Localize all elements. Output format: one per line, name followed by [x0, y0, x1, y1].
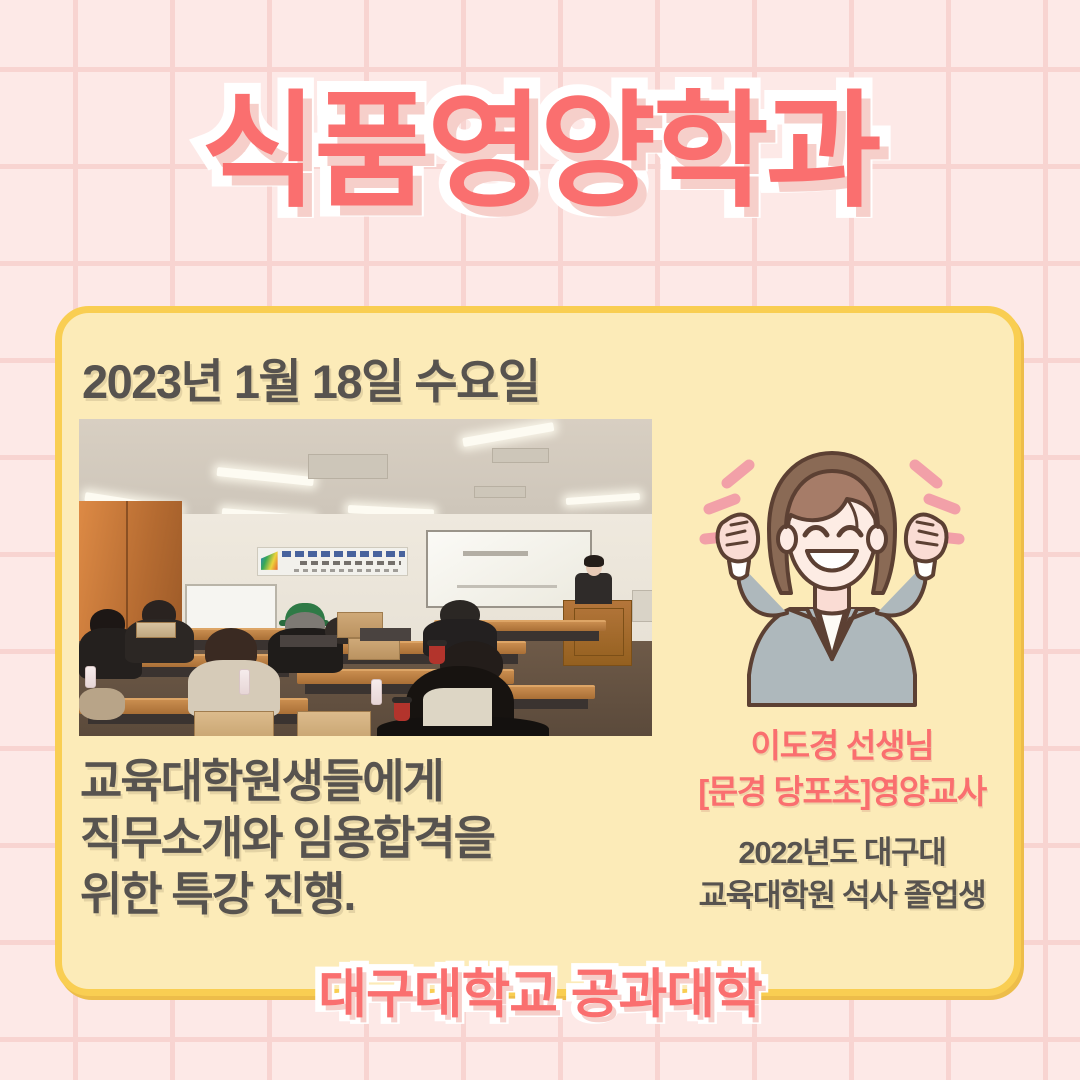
photo-speaker-body	[575, 573, 612, 605]
poster-root: 식품영양학과 2023년 1월 18일 수요일	[0, 0, 1080, 1080]
classroom-photo	[79, 419, 652, 736]
photo-laptop	[280, 635, 337, 648]
ceiling-vent	[308, 454, 388, 479]
speaker-info: 이도경 선생님 [문경 당포초]영양교사 2022년도 대구대 교육대학원 석사…	[658, 725, 1026, 918]
content-card: 2023년 1월 18일 수요일	[55, 306, 1021, 996]
footer-container: 대구대학교 공과대학	[0, 952, 1080, 1028]
photo-bottle	[85, 666, 96, 688]
speaker-degree: 2022년도 대구대 교육대학원 석사 졸업생	[658, 832, 1026, 918]
photo-cup	[429, 644, 445, 664]
projection-screen	[426, 530, 592, 608]
slide-title-line	[463, 551, 528, 556]
banner-text-line1	[282, 551, 406, 557]
banner-text-line2	[300, 561, 402, 565]
banner-text-line3	[294, 569, 400, 572]
photo-box	[297, 711, 371, 736]
photo-attendee-foreground	[423, 688, 492, 726]
photo-bottle	[371, 679, 382, 705]
photo-box	[194, 711, 274, 736]
organization-name: 대구대학교 공과대학	[318, 952, 762, 1028]
photo-bottle	[239, 669, 250, 695]
rainbow-logo-icon	[261, 551, 278, 570]
slide-subtitle-line	[457, 585, 558, 588]
photo-scene	[79, 419, 652, 736]
photo-cup	[394, 701, 410, 721]
speaker-role: [문경 당포초]영양교사	[658, 771, 1026, 813]
photo-laptop	[360, 628, 412, 641]
speaker-name: 이도경 선생님	[658, 725, 1026, 767]
headline-container: 식품영양학과	[0, 78, 1080, 227]
photo-whiteboard	[185, 584, 277, 635]
event-description: 교육대학원생들에게 직무소개와 임용합격을 위한 특강 진행.	[80, 753, 494, 923]
photo-banner	[257, 547, 409, 576]
photo-box	[348, 638, 400, 660]
event-date: 2023년 1월 18일 수요일	[82, 343, 540, 412]
photo-attendee	[188, 660, 280, 717]
ceiling-vent	[474, 486, 526, 499]
ceiling-vent	[492, 448, 549, 464]
page-title: 식품영양학과	[201, 78, 879, 227]
photo-cabinet	[632, 590, 652, 622]
photo-attendee	[79, 688, 125, 720]
photo-speaker-hair	[584, 555, 603, 566]
cheering-woman-icon	[687, 443, 977, 723]
photo-box	[136, 622, 176, 638]
